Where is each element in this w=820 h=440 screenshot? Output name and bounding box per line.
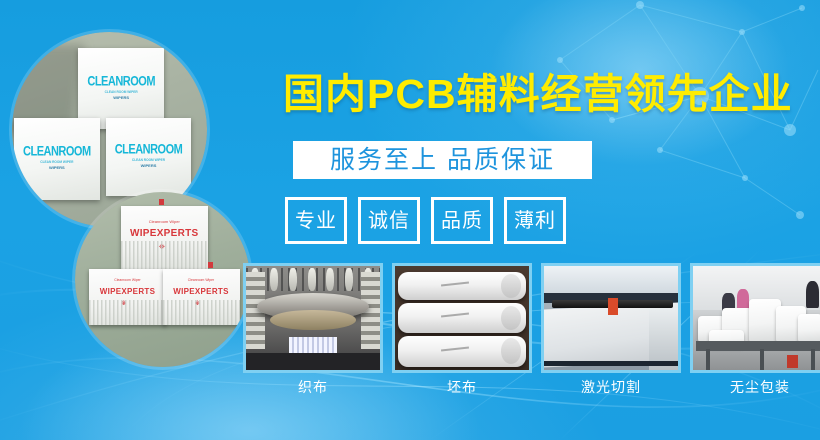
circular-knitting-machine-photo[interactable] [243, 263, 383, 373]
cleanroom-sub-text-2: WIPERS [141, 163, 157, 168]
slogan-text: 服务至上 品质保证 [330, 148, 555, 173]
cleanroom-sub-text-1: CLEAN ROOM WIPER [132, 158, 165, 162]
feature-tag-label: 薄利 [514, 211, 556, 231]
cleanroom-sub-text-1: CLEAN ROOM WIPER [105, 90, 138, 94]
greige-fabric-rolls-photo[interactable] [392, 263, 532, 373]
laser-cutting-machine-photo[interactable] [541, 263, 681, 373]
cleanroom-brand-text: CLEANROOM [23, 146, 91, 160]
cleanroom-sub-text-2: WIPERS [113, 95, 129, 100]
feature-tag-low-margin[interactable]: 薄利 [504, 197, 566, 244]
wipexperts-brand-text: WIPEXPERTS [89, 288, 166, 296]
cleanroom-brand-text: CLEANROOM [115, 144, 183, 158]
product-photo-wipexperts-boxes: Cleanroom Wiper WIPEXPERTS ※ Cleanroom W… [75, 192, 250, 367]
process-caption: 坯布 [392, 380, 532, 394]
feature-tag-label: 专业 [295, 211, 337, 231]
feature-tag-list: 专业 诚信 品质 薄利 [285, 197, 566, 244]
feature-tag-professional[interactable]: 专业 [285, 197, 347, 244]
cleanroom-packaging-photo[interactable] [690, 263, 820, 373]
wipexperts-brand-text: WIPEXPERTS [121, 229, 209, 239]
feature-tag-quality[interactable]: 品质 [431, 197, 493, 244]
cleanroom-sub-text-2: WIPERS [49, 165, 65, 170]
wipexperts-top-text: Cleanroom Wiper [89, 278, 166, 282]
process-caption: 无尘包装 [690, 380, 820, 394]
wipexperts-top-text: Cleanroom Wiper [121, 219, 209, 224]
process-caption: 激光切割 [541, 380, 681, 394]
wipexperts-brand-text: WIPEXPERTS [163, 288, 240, 296]
process-item-cleanroom-packaging[interactable]: 无尘包装 [690, 263, 820, 394]
feature-tag-integrity[interactable]: 诚信 [358, 197, 420, 244]
wipexperts-top-text: Cleanroom Wiper [163, 278, 240, 282]
cleanroom-brand-text: CLEANROOM [87, 76, 155, 90]
cleanroom-sub-text-1: CLEAN ROOM WIPER [40, 160, 73, 164]
banner-headline: 国内PCB辅料经营领先企业 [283, 74, 793, 115]
process-caption: 织布 [243, 380, 383, 394]
feature-tag-label: 品质 [441, 211, 483, 231]
feature-tag-label: 诚信 [368, 211, 410, 231]
promotional-banner: CLEANROOM CLEAN ROOM WIPER WIPERS CLEANR… [0, 0, 820, 440]
process-item-greige-fabric[interactable]: 坯布 [392, 263, 532, 394]
process-item-laser-cutting[interactable]: 激光切割 [541, 263, 681, 394]
process-item-weaving[interactable]: 织布 [243, 263, 383, 394]
process-thumbnail-list: 织布 坯布 [243, 263, 820, 394]
slogan-bar: 服务至上 品质保证 [293, 141, 592, 179]
